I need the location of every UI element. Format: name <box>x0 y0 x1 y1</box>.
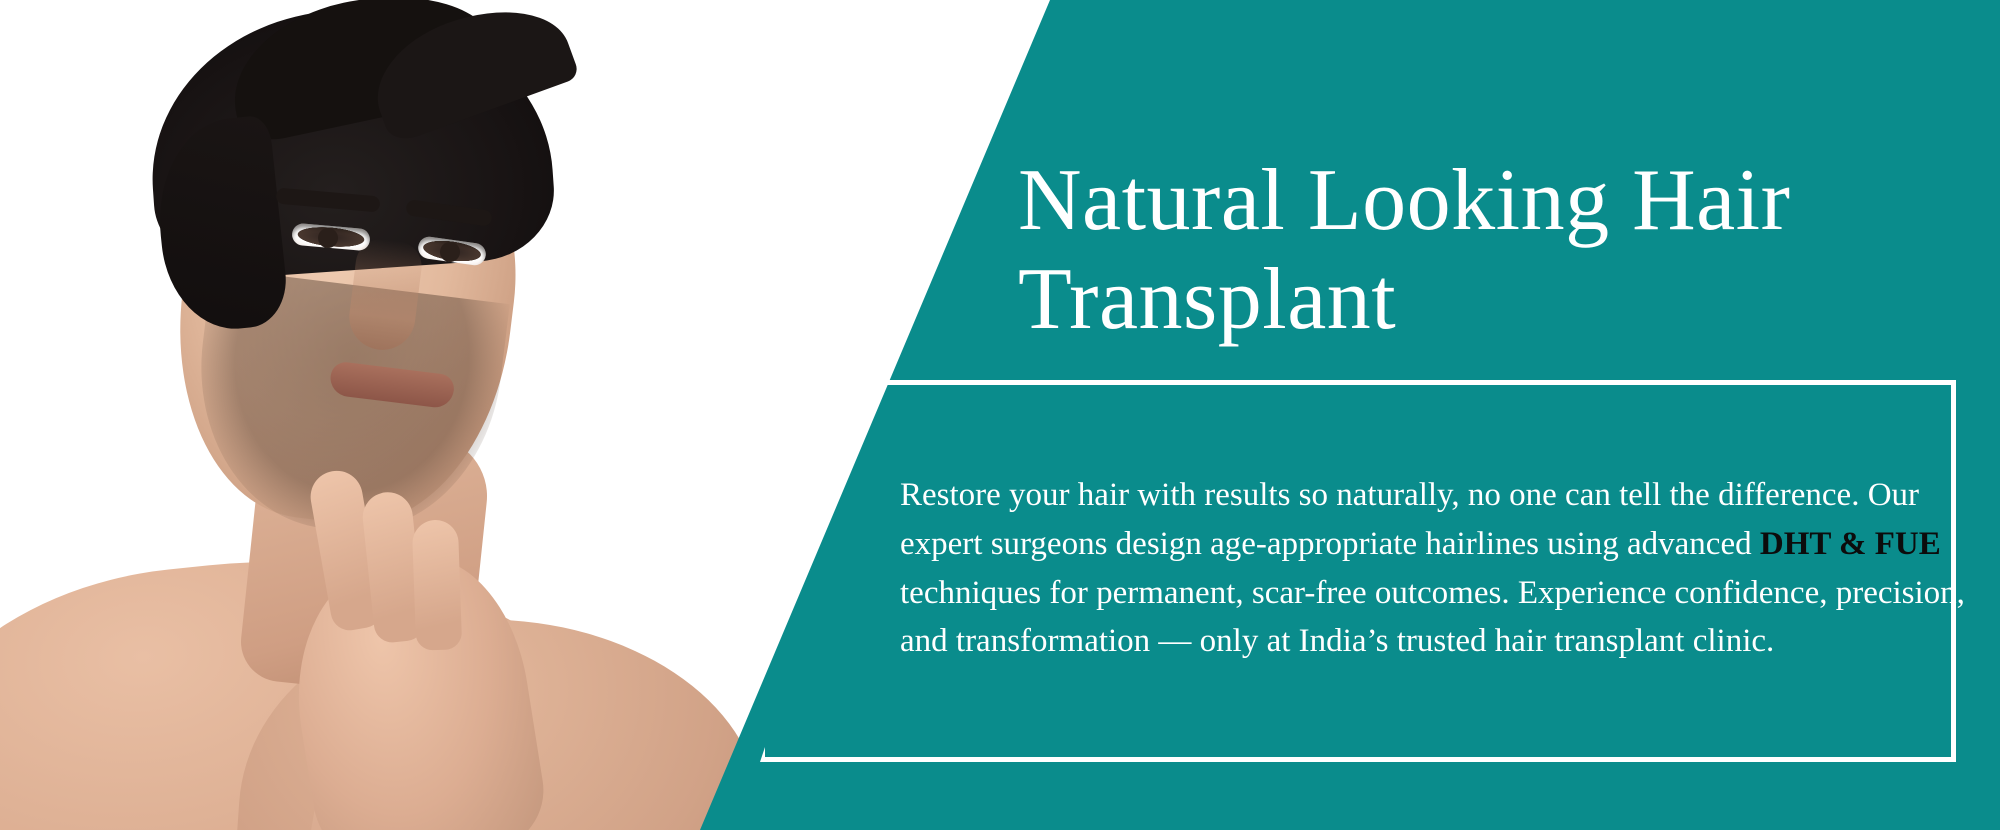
pupil-right <box>440 242 460 262</box>
description-emphasis: DHT & FUE <box>1760 526 1941 562</box>
description-part-two: techniques for permanent, scar-free outc… <box>900 575 1965 660</box>
hair-transplant-banner: Natural Looking Hair Transplant Restore … <box>0 0 2000 830</box>
banner-description: Restore your hair with results so natura… <box>900 471 1970 666</box>
banner-headline: Natural Looking Hair Transplant <box>1018 151 2000 350</box>
pupil-left <box>318 228 338 248</box>
finger-ring <box>412 519 463 651</box>
